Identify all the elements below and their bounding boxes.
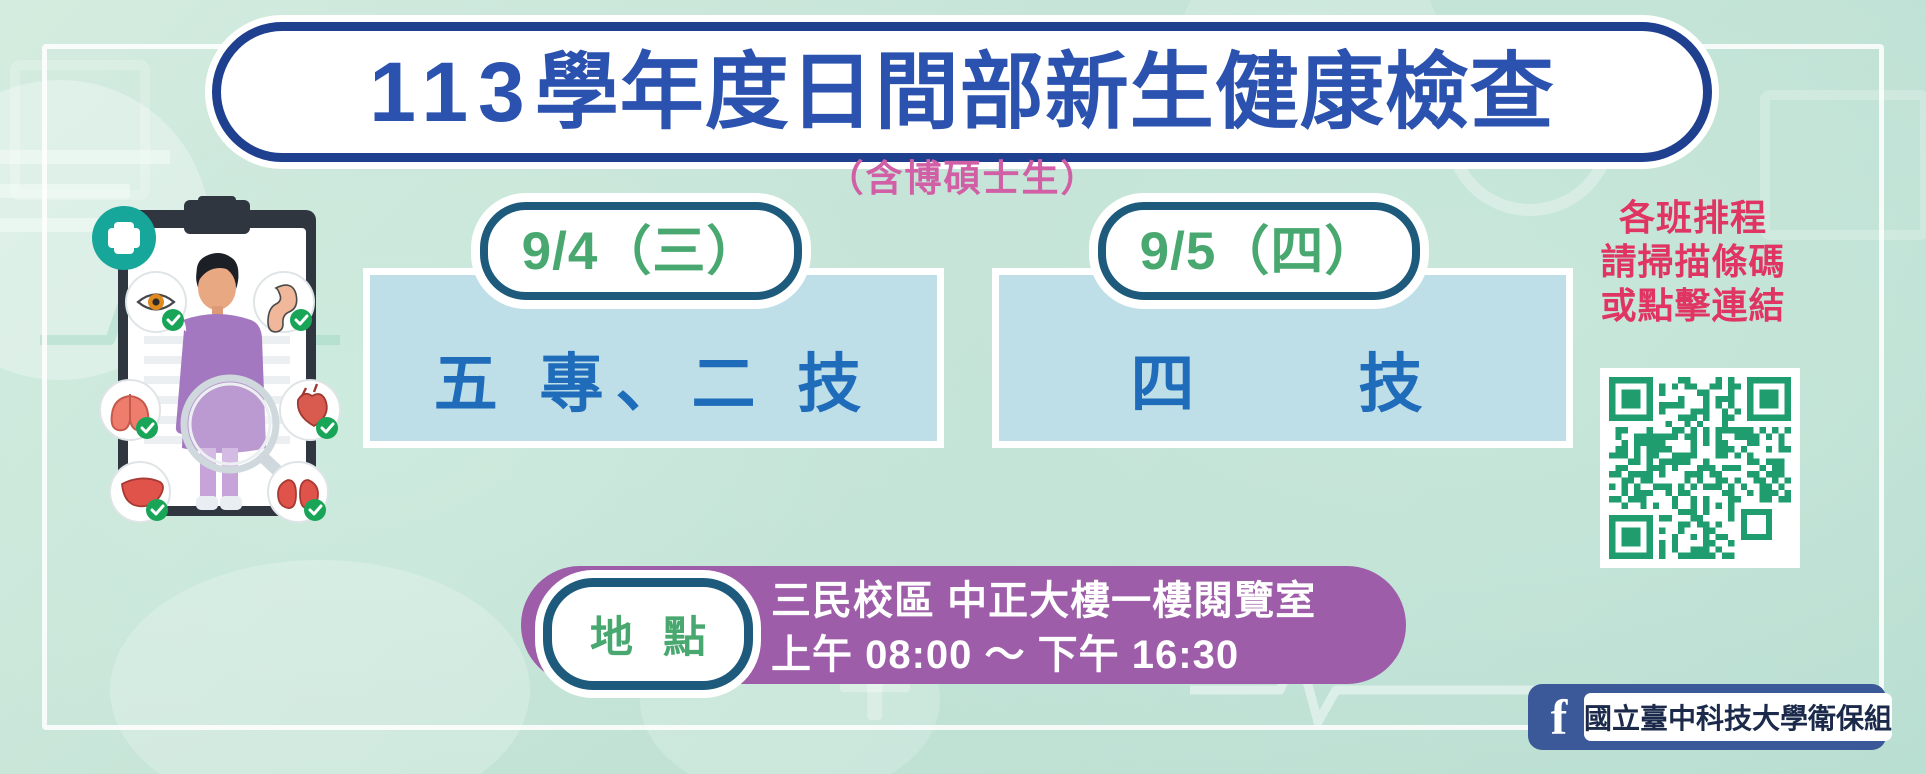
qr-code-icon[interactable] xyxy=(1600,368,1800,568)
location-bar: 地 點 三民校區 中正大樓一樓閱覽室 上午 08:00 ～ 下午 16:30 xyxy=(521,566,1406,684)
location-label-pill: 地 點 xyxy=(543,578,753,690)
location-label: 地 點 xyxy=(581,603,715,665)
qr-note-line-2: 請掃描條碼 xyxy=(1548,240,1838,284)
location-place: 三民校區 中正大樓一樓閱覽室 xyxy=(771,574,1316,628)
qr-instruction-text: 各班排程 請掃描條碼 或點擊連結 xyxy=(1548,196,1838,328)
session-programs-2: 四 技 xyxy=(999,333,1566,425)
session-date-pill-2: 9/5（四） xyxy=(1098,202,1420,300)
title-year: 113 xyxy=(369,45,535,139)
session-date-2: 9/5（四） xyxy=(1140,225,1379,278)
health-checkup-banner: 113學年度日間部新生健康檢查 （含博碩士生） 五 專、二 技 9/4（三） 四… xyxy=(0,0,1926,774)
facebook-page-name: 國立臺中科技大學衛保組 xyxy=(1584,693,1892,741)
title-rest: 學年度日間部新生健康檢查 xyxy=(535,45,1555,139)
location-time: 上午 08:00 ～ 下午 16:30 xyxy=(771,628,1316,682)
page-title-pill: 113學年度日間部新生健康檢查 xyxy=(212,22,1712,162)
page-title: 113學年度日間部新生健康檢查 xyxy=(369,50,1555,134)
health-checkup-illustration xyxy=(88,196,348,536)
session-programs-1: 五 專、二 技 xyxy=(370,333,937,425)
qr-note-line-3: 或點擊連結 xyxy=(1548,284,1838,328)
session-date-1: 9/4（三） xyxy=(522,225,761,278)
page-subtitle: （含博碩士生） xyxy=(0,148,1926,202)
session-date-pill-1: 9/4（三） xyxy=(480,202,802,300)
qr-note-line-1: 各班排程 xyxy=(1548,196,1838,240)
facebook-icon: f xyxy=(1538,691,1580,743)
medical-cross-icon xyxy=(92,206,156,270)
facebook-badge[interactable]: f 國立臺中科技大學衛保組 xyxy=(1528,684,1886,750)
location-details: 三民校區 中正大樓一樓閱覽室 上午 08:00 ～ 下午 16:30 xyxy=(771,574,1316,683)
